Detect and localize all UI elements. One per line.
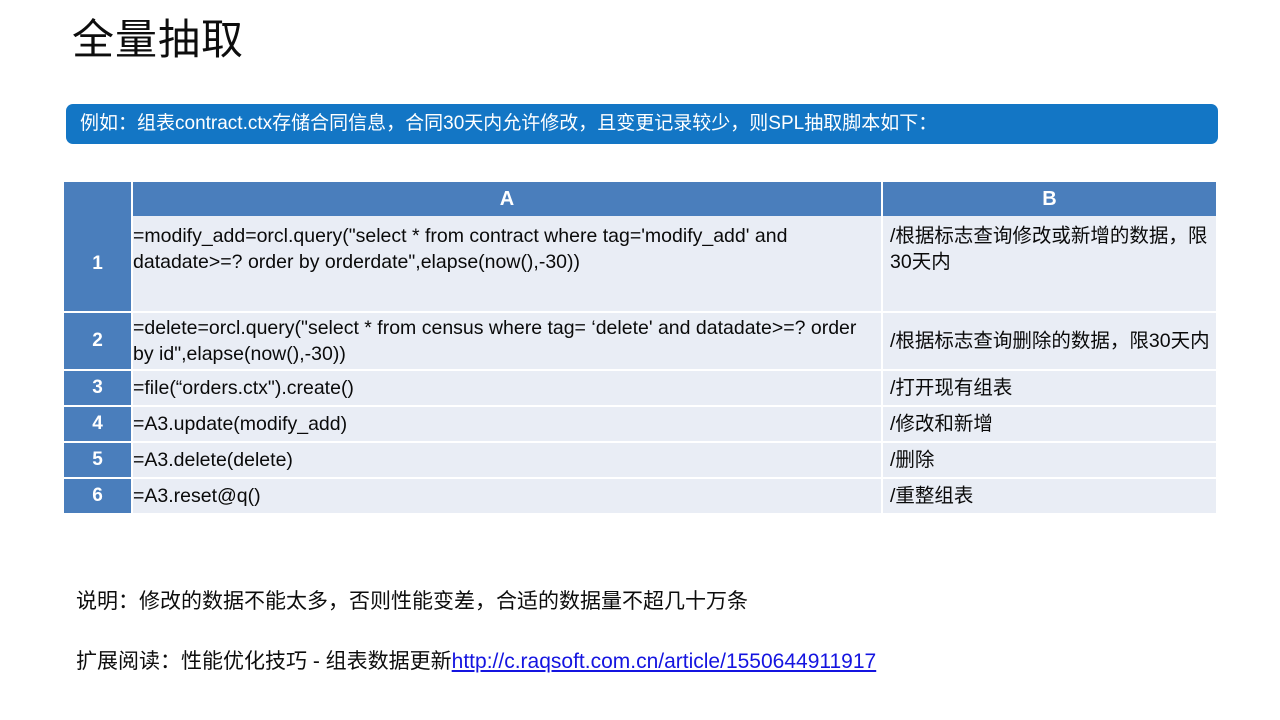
row-number: 6: [64, 478, 132, 514]
note-performance: 说明：修改的数据不能太多，否则性能变差，合适的数据量不超几十万条: [76, 588, 748, 616]
table-row: 3 =file(“orders.ctx").create() /打开现有组表: [64, 370, 1216, 406]
column-header-a: A: [132, 182, 882, 216]
banner-text: 例如：组表contract.ctx存储合同信息，合同30天内允许修改，且变更记录…: [80, 113, 937, 135]
cell-a: =A3.reset@q(): [132, 478, 882, 514]
row-number: 3: [64, 370, 132, 406]
table-row: 2 =delete=orcl.query("select * from cens…: [64, 312, 1216, 370]
column-header-b: B: [882, 182, 1216, 216]
cell-b: /根据标志查询修改或新增的数据，限30天内: [882, 216, 1216, 312]
page-title: 全量抽取: [72, 12, 244, 68]
table-header-row: A B: [64, 182, 1216, 216]
slide-canvas: 全量抽取 例如：组表contract.ctx存储合同信息，合同30天内允许修改，…: [0, 0, 1280, 720]
cell-b: /重整组表: [882, 478, 1216, 514]
column-header-corner: [64, 182, 132, 216]
cell-a: =A3.delete(delete): [132, 442, 882, 478]
cell-b: /修改和新增: [882, 406, 1216, 442]
cell-b: /打开现有组表: [882, 370, 1216, 406]
spl-script-table: A B 1 =modify_add=orcl.query("select * f…: [64, 182, 1216, 515]
row-number: 4: [64, 406, 132, 442]
example-callout-banner: 例如：组表contract.ctx存储合同信息，合同30天内允许修改，且变更记录…: [66, 104, 1218, 144]
cell-a: =A3.update(modify_add): [132, 406, 882, 442]
cell-a: =modify_add=orcl.query("select * from co…: [132, 216, 882, 312]
row-number: 2: [64, 312, 132, 370]
table-row: 5 =A3.delete(delete) /删除: [64, 442, 1216, 478]
further-reading-link[interactable]: http://c.raqsoft.com.cn/article/15506449…: [452, 650, 877, 673]
row-number: 5: [64, 442, 132, 478]
table-row: 6 =A3.reset@q() /重整组表: [64, 478, 1216, 514]
row-number: 1: [64, 216, 132, 312]
cell-b: /删除: [882, 442, 1216, 478]
further-reading-label: 扩展阅读：性能优化技巧 - 组表数据更新: [76, 650, 452, 673]
table-row: 1 =modify_add=orcl.query("select * from …: [64, 216, 1216, 312]
note-further-reading: 扩展阅读：性能优化技巧 - 组表数据更新http://c.raqsoft.com…: [76, 648, 876, 676]
cell-a: =file(“orders.ctx").create(): [132, 370, 882, 406]
cell-a: =delete=orcl.query("select * from census…: [132, 312, 882, 370]
cell-b: /根据标志查询删除的数据，限30天内: [882, 312, 1216, 370]
table-row: 4 =A3.update(modify_add) /修改和新增: [64, 406, 1216, 442]
